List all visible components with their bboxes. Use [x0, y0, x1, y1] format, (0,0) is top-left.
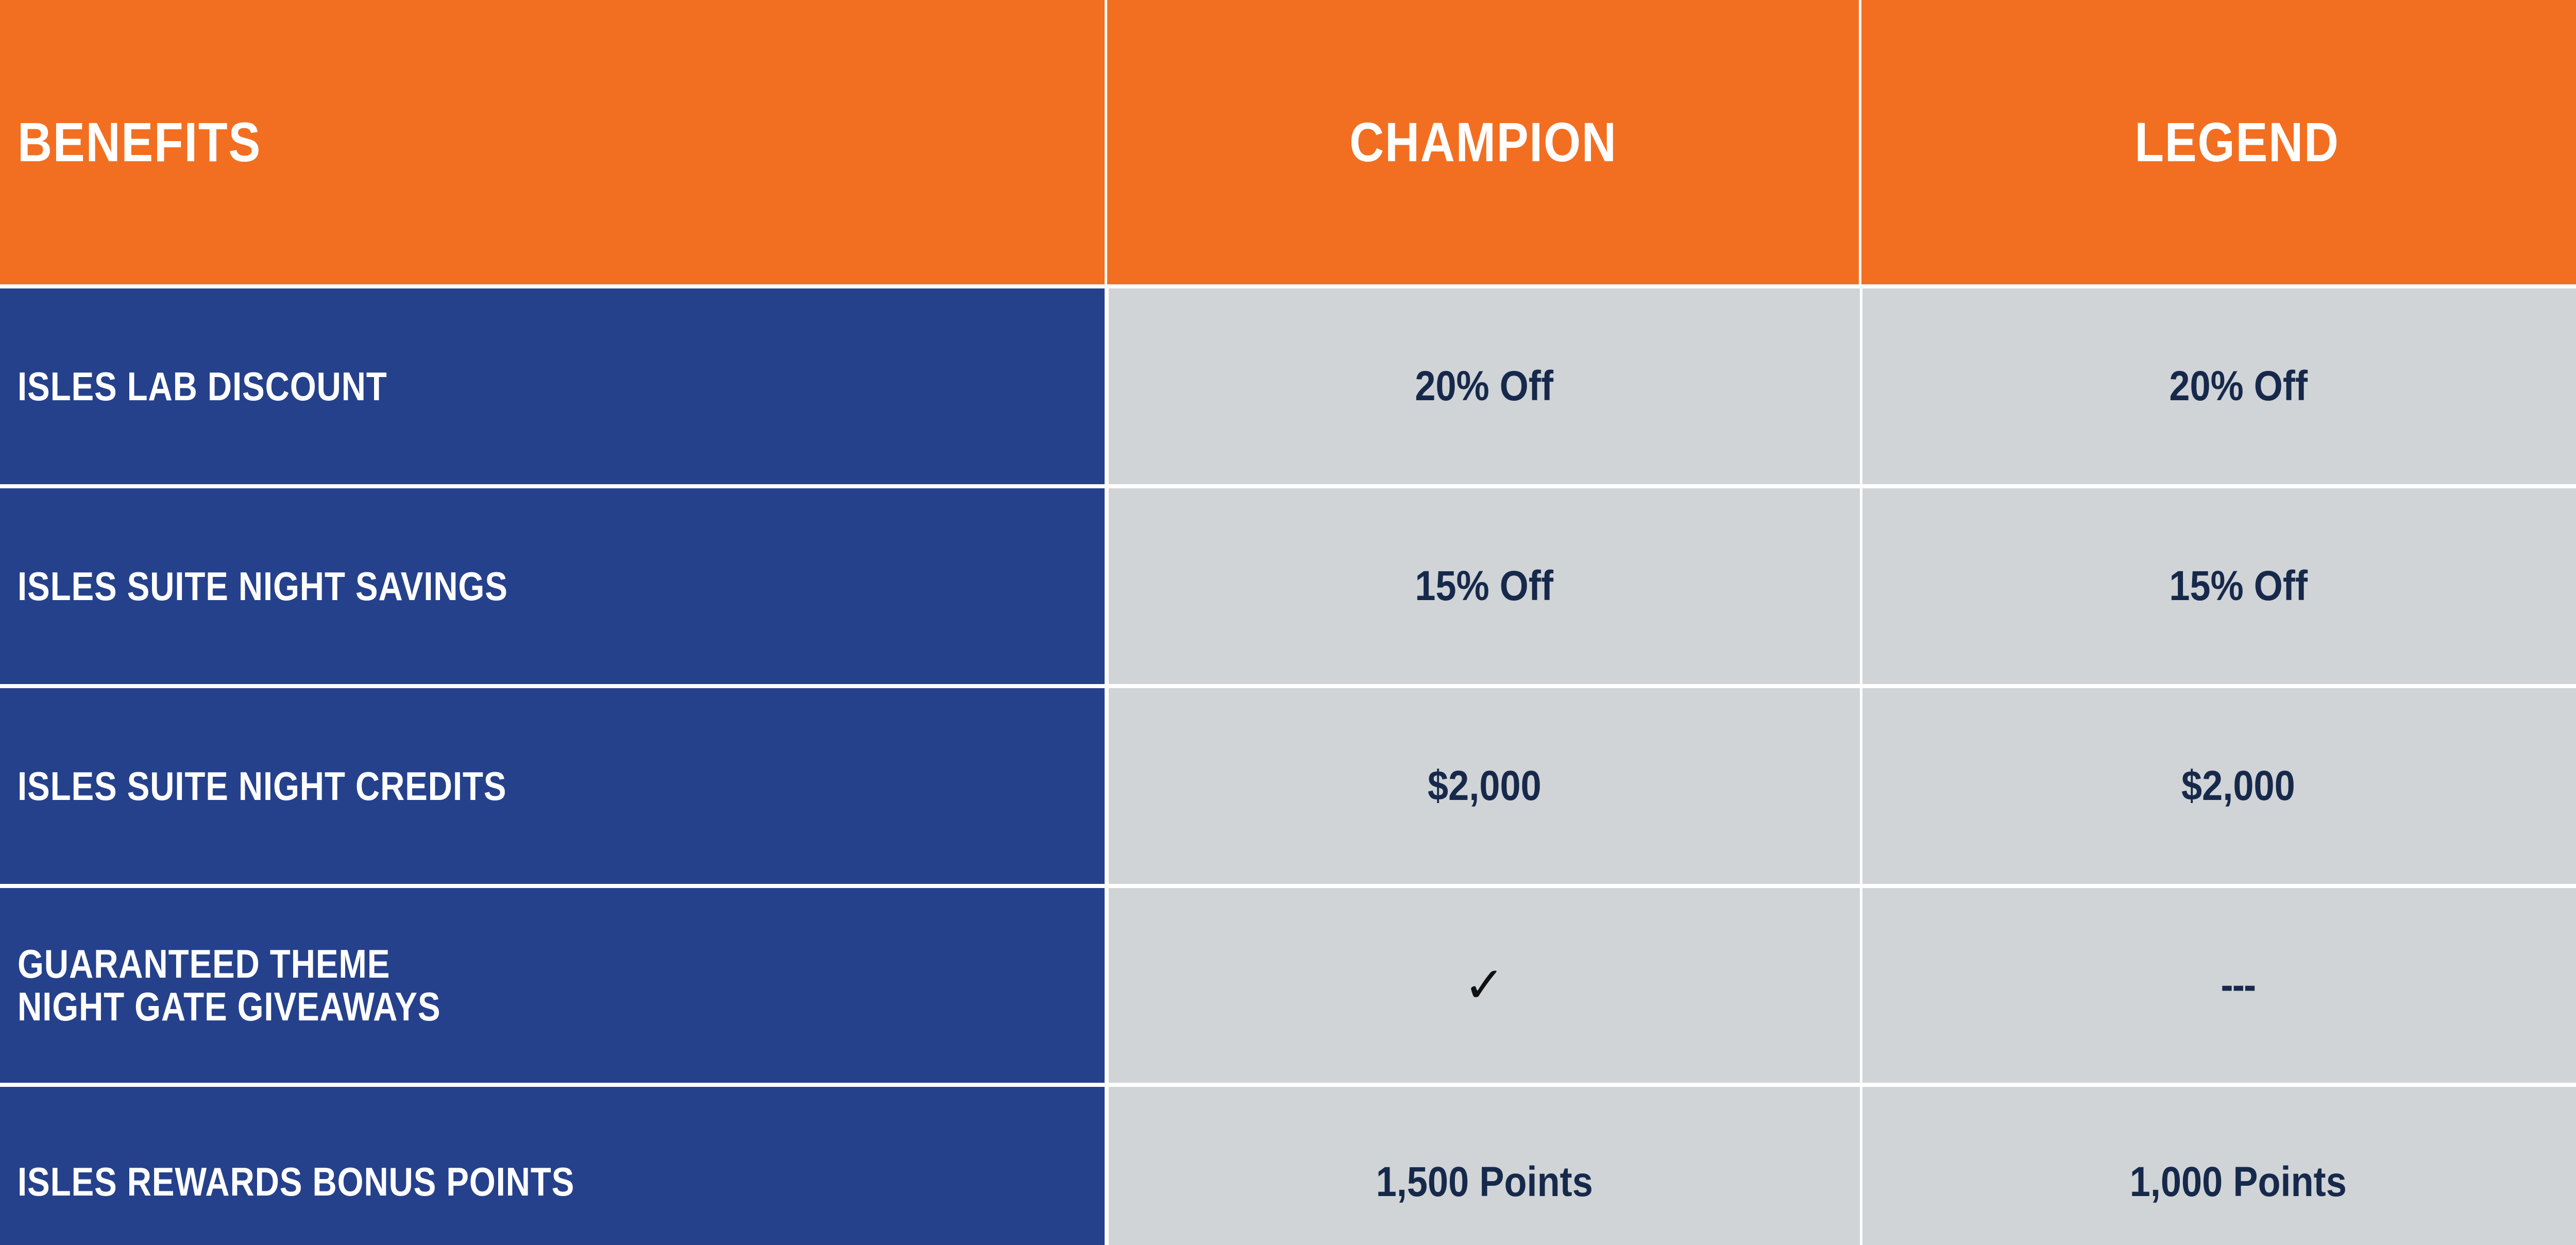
table-row: GUARANTEED THEME NIGHT GATE GIVEAWAYS ✓ …: [0, 888, 2576, 1083]
row-label-cell: ISLES LAB DISCOUNT: [0, 288, 1105, 484]
benefit-value: 20% Off: [1415, 365, 1554, 407]
header-cell-champion: CHAMPION: [1107, 0, 1859, 284]
benefit-value: 1,500 Points: [1376, 1161, 1593, 1203]
value-cell-champion: 20% Off: [1109, 288, 1860, 484]
value-cell-legend: $2,000: [1862, 688, 2576, 884]
row-label-cell: ISLES REWARDS BONUS POINTS: [0, 1087, 1105, 1245]
table-row: ISLES LAB DISCOUNT 20% Off 20% Off 20% O…: [0, 288, 2576, 484]
value-cell-champion: $2,000: [1109, 688, 1860, 884]
table-row: ISLES SUITE NIGHT SAVINGS 15% Off 15% Of…: [0, 488, 2576, 684]
header-cell-benefits: BENEFITS: [0, 0, 1105, 284]
benefit-value: 15% Off: [1415, 565, 1554, 607]
table-header-row: BENEFITS CHAMPION LEGEND ALL STAR VETERA…: [0, 0, 2576, 284]
value-cell-champion: ✓: [1109, 888, 1860, 1083]
row-label-cell: ISLES SUITE NIGHT CREDITS: [0, 688, 1105, 884]
row-label-cell: GUARANTEED THEME NIGHT GATE GIVEAWAYS: [0, 888, 1105, 1083]
benefit-value: ---: [2221, 964, 2256, 1007]
value-cell-legend: 15% Off: [1862, 488, 2576, 684]
page-title: BENEFITS: [18, 114, 953, 170]
benefit-name: ISLES SUITE NIGHT CREDITS: [18, 765, 930, 808]
benefit-name: ISLES SUITE NIGHT SAVINGS: [18, 565, 930, 608]
benefit-value: $2,000: [2181, 765, 2295, 807]
value-cell-champion: 1,500 Points: [1109, 1087, 1860, 1245]
benefit-value: $2,000: [1428, 765, 1541, 807]
table-row: ISLES SUITE NIGHT CREDITS $2,000 $2,000 …: [0, 688, 2576, 884]
column-header-label: LEGEND: [2135, 114, 2340, 170]
benefit-name: GUARANTEED THEME NIGHT GATE GIVEAWAYS: [18, 943, 930, 1028]
header-cell-legend: LEGEND: [1861, 0, 2576, 284]
benefits-comparison-table: BENEFITS CHAMPION LEGEND ALL STAR VETERA…: [0, 0, 2576, 1245]
benefit-value: 20% Off: [2169, 365, 2308, 407]
benefit-name: ISLES LAB DISCOUNT: [18, 365, 930, 408]
column-header-label: CHAMPION: [1349, 114, 1617, 170]
table-row: ISLES REWARDS BONUS POINTS 1,500 Points …: [0, 1087, 2576, 1245]
benefit-value: 1,000 Points: [2130, 1161, 2347, 1203]
checkmark-icon: ✓: [1464, 961, 1505, 1010]
value-cell-legend: ---: [1862, 888, 2576, 1083]
value-cell-champion: 15% Off: [1109, 488, 1860, 684]
benefit-value: 15% Off: [2169, 565, 2308, 607]
row-label-cell: ISLES SUITE NIGHT SAVINGS: [0, 488, 1105, 684]
benefit-name: ISLES REWARDS BONUS POINTS: [18, 1161, 930, 1203]
value-cell-legend: 20% Off: [1862, 288, 2576, 484]
value-cell-legend: 1,000 Points: [1862, 1087, 2576, 1245]
